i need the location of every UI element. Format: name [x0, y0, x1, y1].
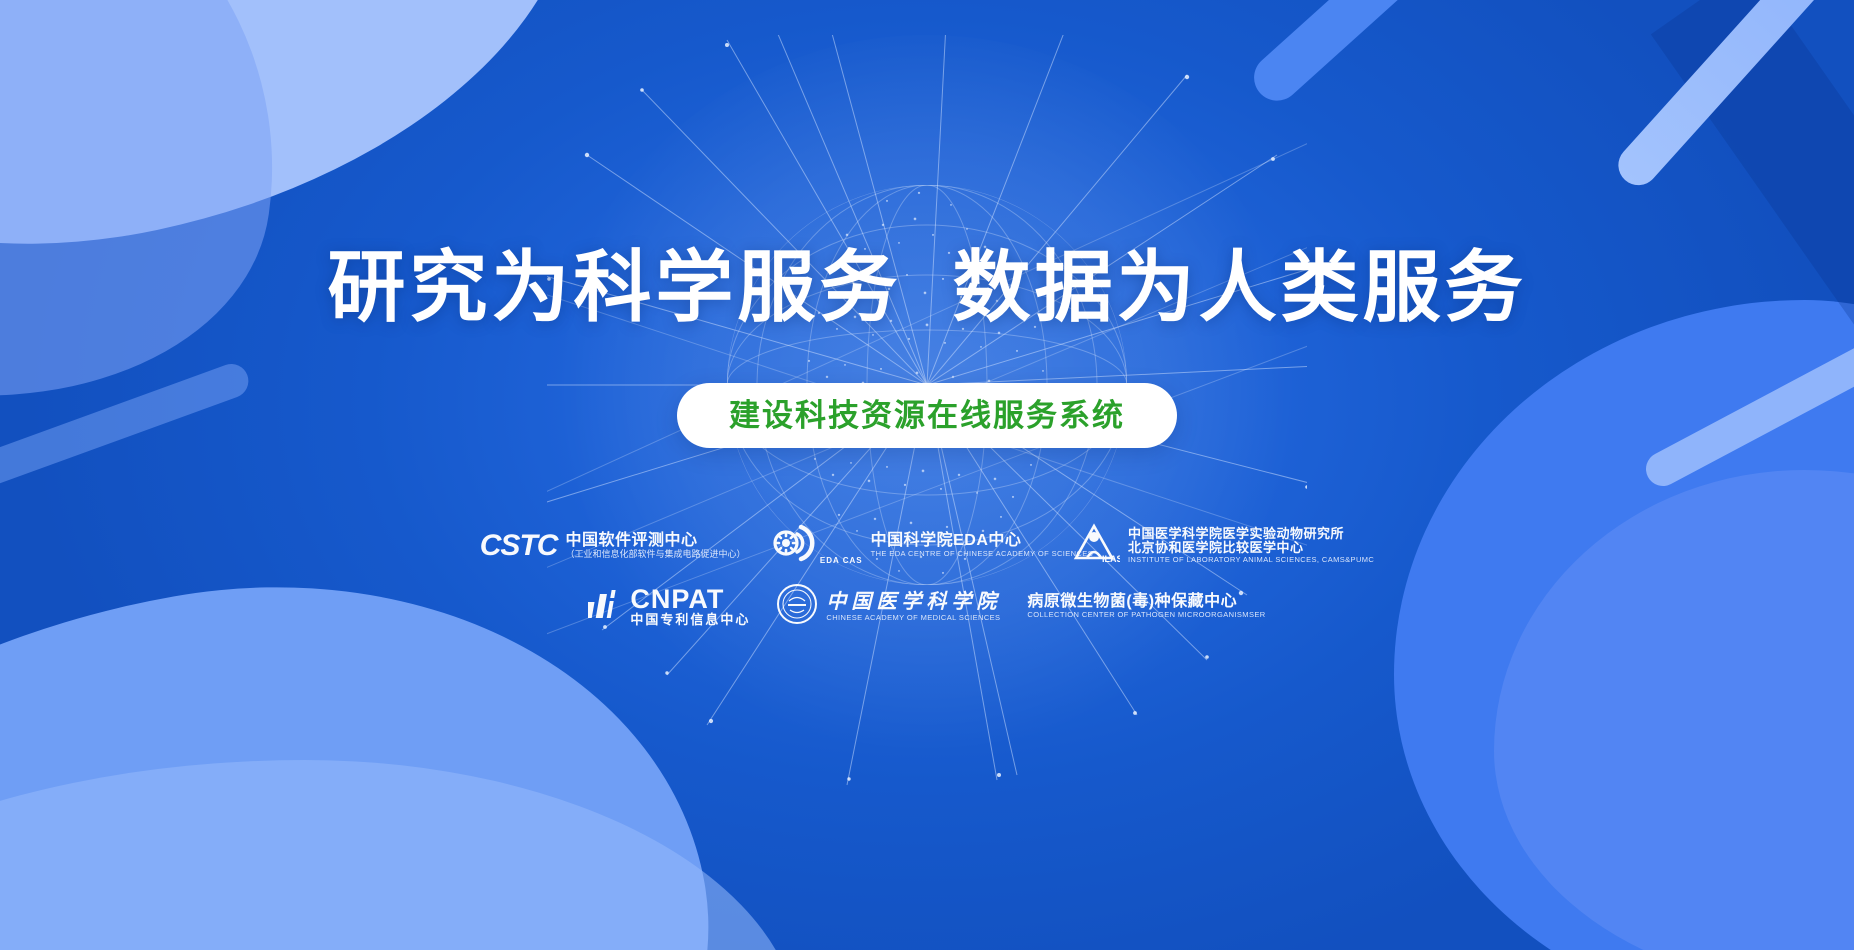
- svg-text:ILAS: ILAS: [1102, 554, 1120, 564]
- logo-ilas-name-cn-1: 中国医学科学院医学实验动物研究所: [1128, 527, 1374, 542]
- partner-logo-row-1: CSTC 中国软件评测中心 （工业和信息化部软件与集成电路促进中心）: [480, 522, 1374, 569]
- logo-ilas-cams-pumc[interactable]: ILAS 中国医学科学院医学实验动物研究所 北京协和医学院比较医学中心 INST…: [1072, 522, 1374, 569]
- logo-ilas-name-en: INSTITUTE OF LABORATORY ANIMAL SCIENCES,…: [1128, 556, 1374, 564]
- logo-pathogen-collection-center[interactable]: 病原微生物菌(毒)种保藏中心 Collection Center of Path…: [1027, 593, 1265, 619]
- logo-cnpat[interactable]: CNPAT 中国专利信息中心: [588, 586, 750, 628]
- logo-eda-cas-tag: EDA CAS: [820, 556, 863, 565]
- logo-pathogen-name-cn: 病原微生物菌(毒)种保藏中心: [1027, 593, 1265, 611]
- logo-cstc[interactable]: CSTC 中国软件评测中心 （工业和信息化部软件与集成电路促进中心）: [480, 531, 746, 561]
- logo-cams-name-cn: 中国医学科学院: [826, 591, 1001, 613]
- cams-seal-icon: [776, 583, 818, 630]
- logo-pathogen-name-en: Collection Center of Pathogen Microorgan…: [1027, 611, 1265, 619]
- subtitle-pill-button[interactable]: 建设科技资源在线服务系统: [677, 383, 1177, 448]
- logo-eda-cas-name-en: The EDA centre of Chinese Academy of Sci…: [871, 550, 1093, 558]
- logo-eda-cas[interactable]: EDA CAS 中国科学院EDA中心 The EDA centre of Chi…: [771, 523, 1045, 568]
- logo-eda-cas-name-cn: 中国科学院EDA中心: [871, 532, 1093, 550]
- page-title: 研究为科学服务 数据为人类服务: [327, 248, 1526, 326]
- partner-logo-row-2: CNPAT 中国专利信息中心: [588, 583, 1265, 630]
- cnpat-bars-icon: [588, 588, 622, 625]
- logo-ilas-name-cn-2: 北京协和医学院比较医学中心: [1128, 541, 1374, 556]
- logo-cams[interactable]: 中国医学科学院 Chinese Academy of Medical Scien…: [776, 583, 1001, 630]
- logo-cstc-name-cn: 中国软件评测中心: [565, 532, 745, 550]
- logo-cstc-name-sub: （工业和信息化部软件与集成电路促进中心）: [565, 549, 745, 559]
- cnpat-wordmark: CNPAT: [630, 586, 750, 613]
- logo-cams-name-en: Chinese Academy of Medical Sciences: [826, 614, 1001, 622]
- logo-cnpat-name-cn: 中国专利信息中心: [630, 613, 750, 628]
- cstc-wordmark-icon: CSTC: [480, 531, 558, 561]
- eda-gear-arc-icon: EDA CAS: [771, 523, 862, 568]
- hero-banner: 研究为科学服务 数据为人类服务 建设科技资源在线服务系统 CSTC 中国软件评测…: [0, 0, 1854, 950]
- partner-logos: CSTC 中国软件评测中心 （工业和信息化部软件与集成电路促进中心）: [547, 522, 1307, 630]
- banner-content: 研究为科学服务 数据为人类服务 建设科技资源在线服务系统 CSTC 中国软件评测…: [0, 0, 1854, 950]
- ilas-triangle-icon: ILAS: [1072, 522, 1120, 569]
